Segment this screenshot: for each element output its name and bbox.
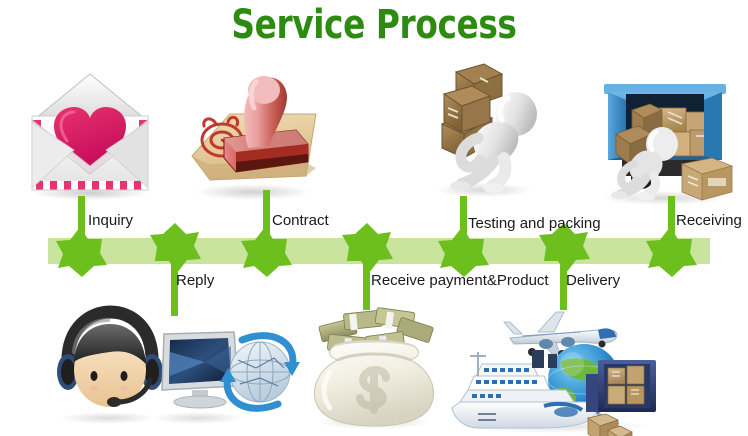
page-title: Service Process (67, 2, 680, 48)
boxes-carrier-icon (418, 62, 548, 204)
step-label-reply: Reply (176, 272, 214, 289)
step-label-testing: Testing and packing (468, 215, 601, 232)
milestone-star-reply (148, 222, 202, 276)
milestone-star-inquiry (55, 224, 109, 278)
logistics-icon (446, 304, 668, 434)
support-agent-icon (48, 306, 298, 434)
rubber-stamp-icon (178, 58, 328, 203)
milestone-star-contract (240, 224, 294, 278)
milestone-star-payment (340, 222, 394, 276)
step-label-payment: Receive payment&Product (371, 272, 549, 289)
step-label-inquiry: Inquiry (88, 212, 133, 229)
money-bag-icon (300, 300, 448, 434)
milestone-star-receiving (645, 224, 699, 278)
envelope-heart-icon (14, 62, 166, 202)
step-label-receiving: Receiving (676, 212, 742, 229)
step-label-delivery: Delivery (566, 272, 620, 289)
milestone-star-testing (437, 224, 491, 278)
service-process-infographic: Service Process (0, 0, 748, 436)
step-label-contract: Contract (272, 212, 329, 229)
truck-loading-icon (586, 66, 741, 208)
